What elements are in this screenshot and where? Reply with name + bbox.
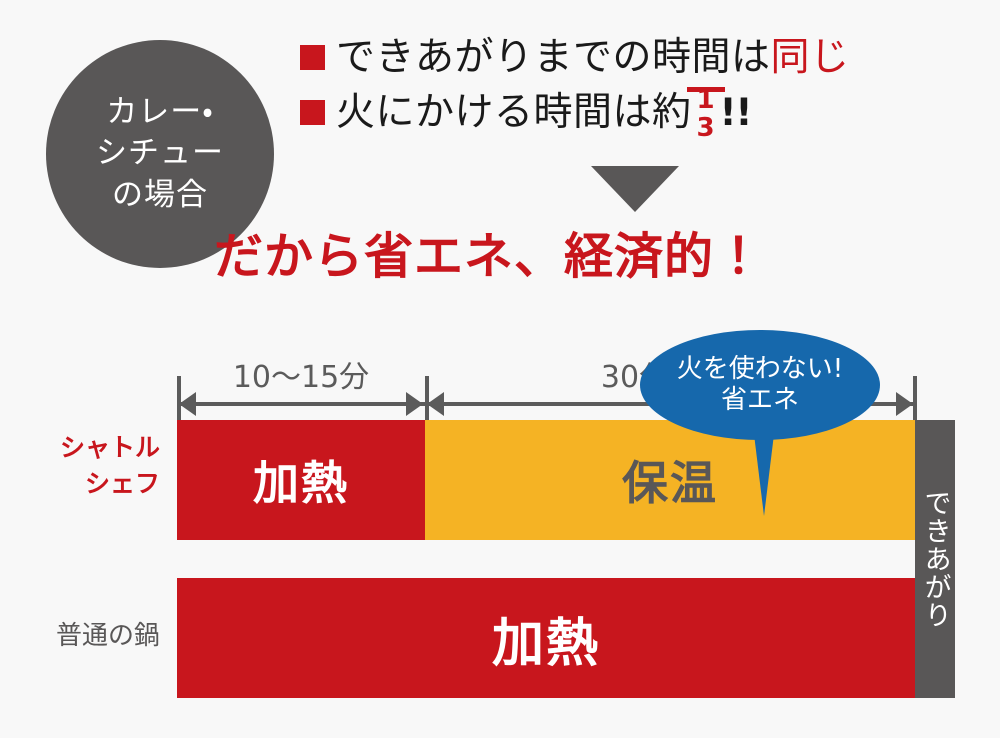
headline-line-2-suffix: !! [720, 91, 752, 134]
fraction-denominator: 3 [697, 114, 715, 141]
bar-segment-label: 保温 [622, 447, 718, 513]
done-marker-label: できあがり [920, 489, 949, 629]
dimension-line-heat [177, 402, 425, 406]
bar-segment-heat-shuttle: 加熱 [177, 420, 425, 540]
red-square-bullet-icon [300, 100, 325, 125]
no-flame-callout: 火を使わない! 省エネ [640, 330, 880, 440]
dimension-tick-end [913, 376, 917, 424]
callout-bubble: 火を使わない! 省エネ [640, 330, 880, 440]
bar-segment-heat-pot: 加熱 [177, 578, 915, 698]
headline-line-2-text: 火にかける時間は約 [336, 91, 692, 135]
headline-line-1: できあがりまでの時間は 同じ [300, 36, 850, 80]
headline-line-1-text: できあがりまでの時間は [336, 36, 771, 80]
fraction-bar [687, 87, 725, 92]
dimension-arrowhead-right [896, 392, 913, 416]
infographic-canvas: カレー・ シチュー の場合 できあがりまでの時間は 同じ 火にかける時間は約 1… [0, 0, 1000, 738]
comparison-chart: 10〜15分 30分 シャトル シェフ 加熱 保温 普通の鍋 加熱 できあがり [0, 330, 1000, 738]
triangle-down-icon [591, 166, 679, 212]
category-badge-label: カレー・ シチュー の場合 [96, 92, 224, 216]
row-label-ordinary-pot: 普通の鍋 [0, 615, 160, 652]
dimension-label-heat: 10〜15分 [177, 352, 425, 396]
headline-line-1-highlight: 同じ [771, 36, 850, 80]
callout-line-1: 火を使わない! [677, 354, 843, 385]
slogan-text: だから省エネ、経済的！ [0, 217, 978, 288]
done-marker-column: できあがり [915, 420, 955, 698]
headline-line-2: 火にかける時間は約 1 3 !! [300, 86, 850, 140]
bar-segment-label: 加熱 [253, 447, 349, 513]
callout-line-2: 省エネ [721, 385, 799, 416]
bar-segment-label: 加熱 [492, 601, 600, 676]
red-square-bullet-icon [300, 45, 325, 70]
headline-bullets: できあがりまでの時間は 同じ 火にかける時間は約 1 3 !! [300, 36, 850, 140]
row-label-shuttle-chef: シャトル シェフ [0, 430, 160, 503]
one-third-fraction: 1 3 [697, 87, 715, 141]
